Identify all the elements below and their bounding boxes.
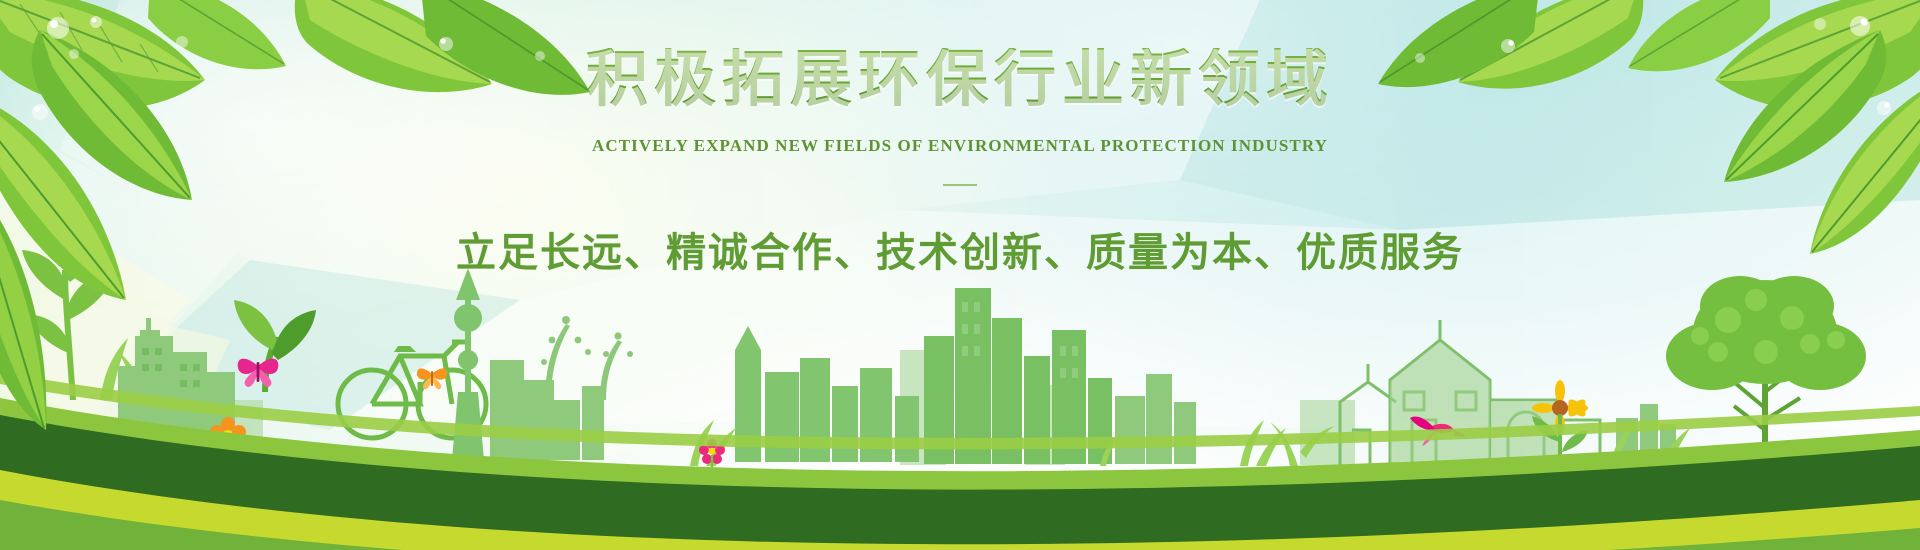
eco-banner: 积极拓展环保行业新领域 ACTIVELY EXPAND NEW FIELDS O…: [0, 0, 1920, 550]
leaf-top-right-group: [1378, 0, 1920, 254]
leaf-cluster-icon: [0, 0, 1920, 550]
